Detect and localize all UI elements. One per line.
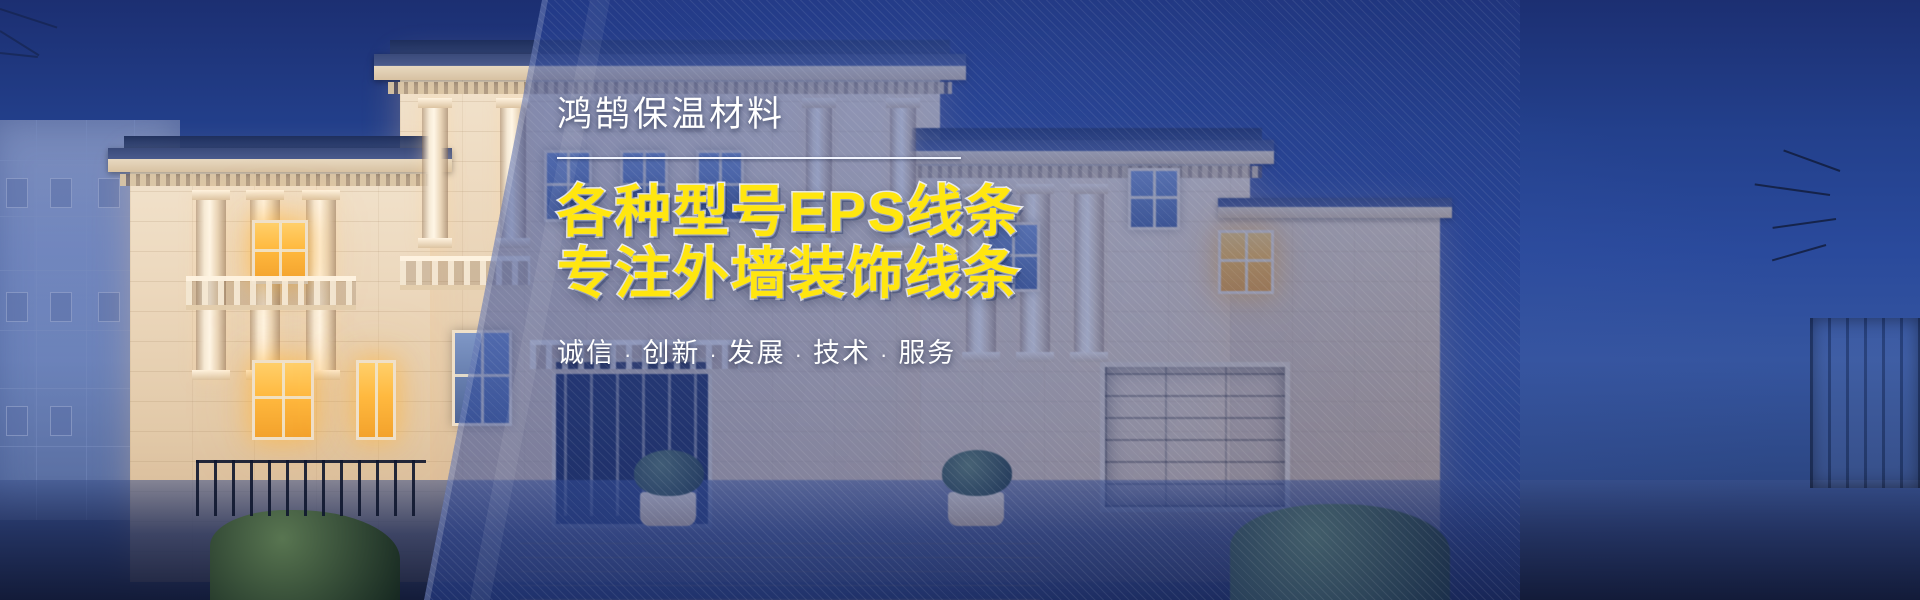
divider-rule [557, 157, 961, 159]
banner-text-block: 鸿鹄保温材料 各种型号EPS线条 专注外墙装饰线条 诚信·创新·发展·技术·服务 [557, 96, 1457, 370]
banner-tagline: 诚信·创新·发展·技术·服务 [557, 331, 1457, 370]
tagline-separator: · [615, 342, 642, 367]
tagline-item: 服务 [898, 338, 956, 368]
headline-line-1: 各种型号EPS线条 [557, 181, 1457, 243]
headline-line-2: 专注外墙装饰线条 [557, 243, 1457, 305]
tagline-item: 诚信 [557, 338, 615, 368]
tagline-item: 技术 [813, 338, 871, 368]
tagline-item: 发展 [728, 338, 786, 368]
banner-headline: 各种型号EPS线条 专注外墙装饰线条 [557, 181, 1457, 305]
tagline-separator: · [700, 342, 727, 367]
tagline-item: 创新 [642, 338, 700, 368]
tagline-separator: · [786, 342, 813, 367]
banner-subtitle: 鸿鹄保温材料 [557, 96, 1457, 135]
hero-banner: 鸿鹄保温材料 各种型号EPS线条 专注外墙装饰线条 诚信·创新·发展·技术·服务 [0, 0, 1920, 600]
tagline-separator: · [871, 342, 898, 367]
